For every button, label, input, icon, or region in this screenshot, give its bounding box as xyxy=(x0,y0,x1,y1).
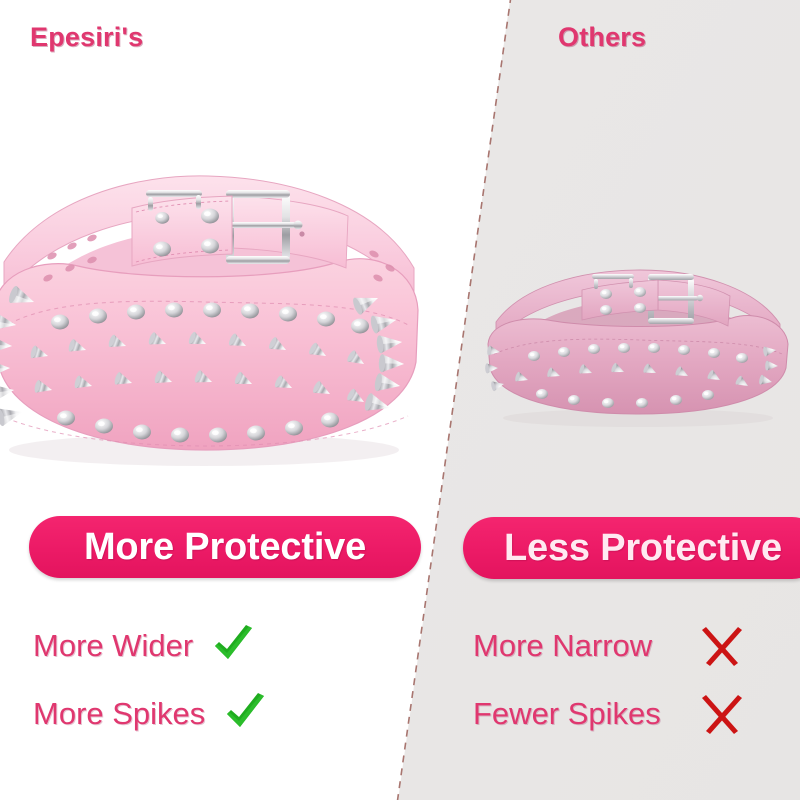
left-feature-label-1: More Wider xyxy=(33,628,193,664)
left-banner: More Protective xyxy=(29,516,421,578)
check-mark-icon xyxy=(223,693,269,735)
left-banner-label: More Protective xyxy=(84,526,366,569)
right-brand-header: Others xyxy=(558,22,646,53)
left-brand-header: Epesiri's xyxy=(30,22,143,53)
right-feature-row-2: Fewer Spikes xyxy=(473,692,743,736)
cross-mark-icon xyxy=(701,625,743,667)
left-feature-row-2: More Spikes xyxy=(33,692,269,736)
right-feature-label-1: More Narrow xyxy=(473,628,701,664)
right-banner: Less Protective xyxy=(463,517,800,579)
left-feature-label-2: More Spikes xyxy=(33,696,205,732)
cross-mark-icon xyxy=(701,693,743,735)
comparison-infographic: Epesiri's Others xyxy=(0,0,800,800)
right-feature-label-2: Fewer Spikes xyxy=(473,696,701,732)
left-feature-row-1: More Wider xyxy=(33,624,257,668)
left-product-image xyxy=(0,150,426,480)
right-product-image xyxy=(478,252,798,432)
right-feature-row-1: More Narrow xyxy=(473,624,743,668)
right-banner-label: Less Protective xyxy=(504,527,782,570)
check-mark-icon xyxy=(211,625,257,667)
